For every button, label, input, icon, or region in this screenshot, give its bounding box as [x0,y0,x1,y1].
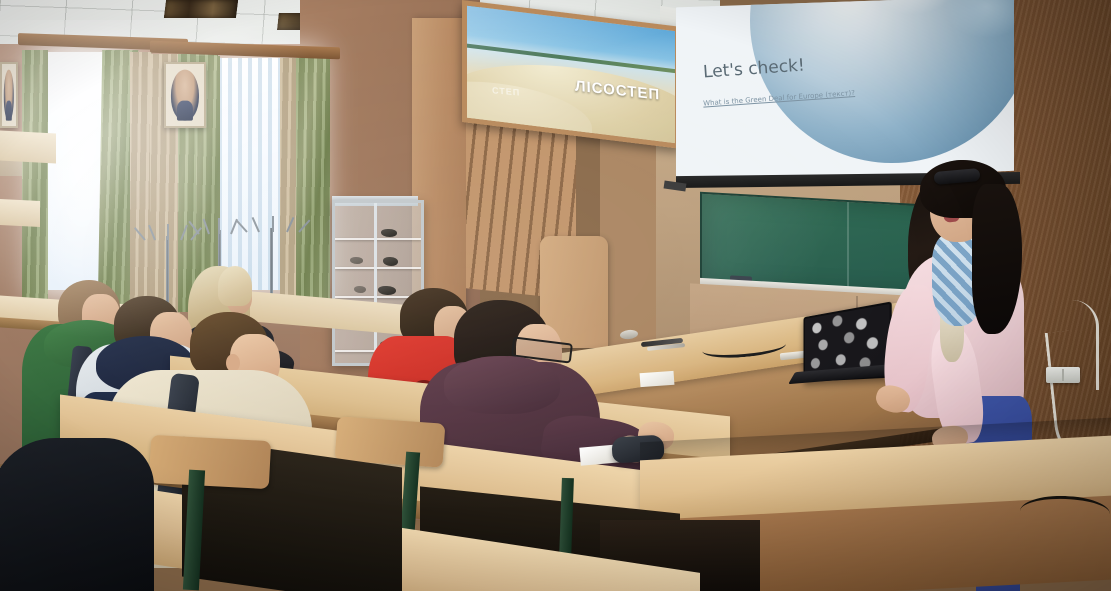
earth-cloud [943,0,1014,38]
earth-photo [750,0,1014,163]
curtain-green [22,50,48,306]
portrait-figure [4,70,14,121]
mineral-specimen [350,257,363,264]
cabinet-shelf [335,267,421,269]
coat-hook [286,217,294,232]
coat-stand-crown [244,212,302,232]
portrait-figure [171,70,199,121]
power-socket[interactable] [1046,367,1080,383]
mineral-specimen [354,286,366,293]
coat-hook [203,219,210,235]
coat-stand-crown [142,222,194,240]
coat-hook [252,217,260,232]
wall-portrait [0,62,18,128]
desk-far-left [0,199,40,227]
coat-hook [167,224,169,240]
desk-far-left [0,131,56,164]
cabinet-shelf [335,238,421,240]
foreground-student-silhouette [0,438,154,591]
wall-portrait [164,62,206,128]
portrait-tie [184,106,186,119]
chair-back[interactable] [149,435,271,489]
coat-hook [218,218,220,234]
poster-glare [467,6,675,144]
student-hood [444,356,560,414]
socket-slot [1062,369,1064,381]
mineral-specimen [383,257,398,266]
coat-hook [180,225,188,241]
missing-ceiling-tile [164,0,238,18]
coat-hook [272,216,274,232]
mineral-specimen [381,229,397,237]
paper-sheet [640,371,675,387]
coat-hook [148,225,156,241]
classroom-scene: СТЕП ЛІСОСТЕП Let's check! What is the G… [0,0,1111,591]
